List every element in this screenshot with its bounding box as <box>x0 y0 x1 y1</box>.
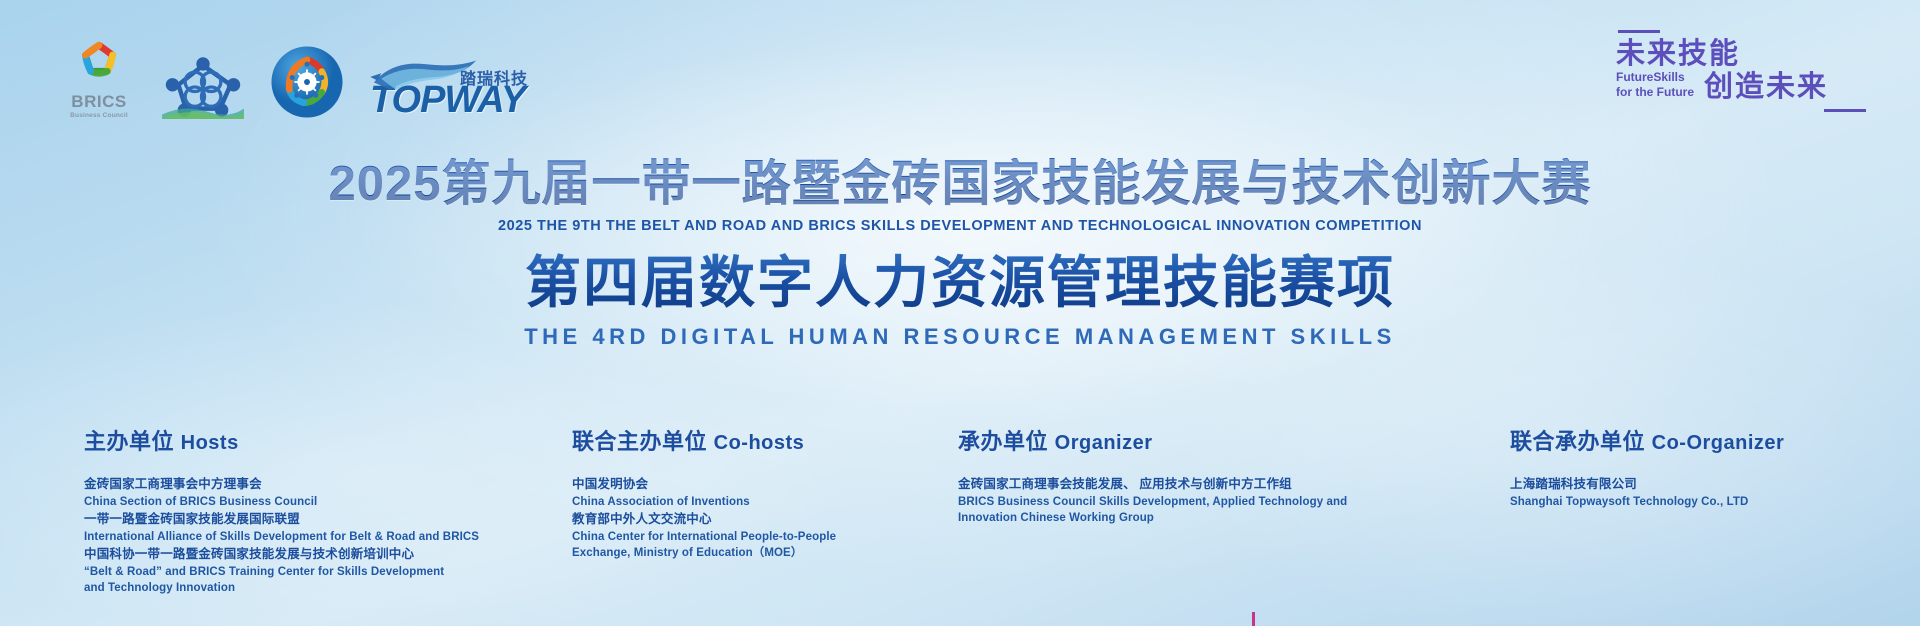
organizer-entry: 中国科协一带一路暨金砖国家技能发展与技术创新培训中心 “Belt & Road”… <box>84 546 514 596</box>
organizer-columns: 主办单位 Hosts 金砖国家工商理事会中方理事会 China Section … <box>0 430 1920 610</box>
future-skills-en: FutureSkills for the Future <box>1616 70 1694 102</box>
column-title-cohosts: 联合主办单位 Co-hosts <box>572 430 942 454</box>
column-title-hosts: 主办单位 Hosts <box>84 430 514 454</box>
future-skills-en-line1: FutureSkills <box>1616 70 1694 84</box>
organizer-entry: 金砖国家工商理事会技能发展、 应用技术与创新中方工作组 BRICS Busine… <box>958 476 1378 526</box>
organizer-column-organizer: 承办单位 Organizer 金砖国家工商理事会技能发展、 应用技术与创新中方工… <box>958 430 1378 528</box>
entry-cn: 一带一路暨金砖国家技能发展国际联盟 <box>84 511 514 529</box>
subtitle-chinese: 第四届数字人力资源管理技能赛项 <box>0 252 1920 314</box>
entry-en: China Association of Inventions <box>572 494 942 510</box>
organizer-column-hosts: 主办单位 Hosts 金砖国家工商理事会中方理事会 China Section … <box>84 430 514 598</box>
column-title-coorganizer-cn: 联合承办单位 <box>1510 429 1645 454</box>
brics-star-icon <box>73 38 125 90</box>
column-title-hosts-cn: 主办单位 <box>84 429 174 454</box>
future-skills-cn-line1: 未来技能 <box>1616 39 1866 69</box>
column-title-organizer-en: Organizer <box>1055 432 1153 454</box>
entry-en: China Section of BRICS Business Council <box>84 494 514 510</box>
column-title-organizer-cn: 承办单位 <box>958 429 1048 454</box>
future-skills-lockup: 未来技能 FutureSkills for the Future 创造未来 <box>1616 30 1866 112</box>
future-skills-rule-top <box>1618 30 1660 33</box>
organizer-entry: 金砖国家工商理事会中方理事会 China Section of BRICS Bu… <box>84 476 514 510</box>
topway-logo-cn: 踏瑞科技 <box>460 65 528 89</box>
organizer-entry: 教育部中外人文交流中心 China Center for Internation… <box>572 511 942 561</box>
entry-en: International Alliance of Skills Develop… <box>84 529 514 545</box>
organizer-column-coorganizer: 联合承办单位 Co-Organizer 上海踏瑞科技有限公司 Shanghai … <box>1510 430 1890 511</box>
future-skills-en-line2: for the Future <box>1616 85 1694 99</box>
entry-en-cont: and Technology Innovation <box>84 580 514 596</box>
bottom-magenta-tick <box>1252 612 1255 626</box>
headline-chinese: 2025第九届一带一路暨金砖国家技能发展与技术创新大赛 <box>0 158 1920 211</box>
entry-en: Shanghai Topwaysoft Technology Co., LTD <box>1510 494 1890 510</box>
organizer-entry: 一带一路暨金砖国家技能发展国际联盟 International Alliance… <box>84 511 514 545</box>
brics-logo-subtitle: Business Council <box>70 112 128 119</box>
topway-logo: 踏瑞科技 TOPWAY <box>370 57 530 119</box>
organizer-entry: 中国发明协会 China Association of Inventions <box>572 476 942 510</box>
subtitle-english: THE 4RD DIGITAL HUMAN RESOURCE MANAGEMEN… <box>0 324 1920 350</box>
column-title-cohosts-en: Co-hosts <box>714 432 805 454</box>
entry-cn: 金砖国家工商理事会中方理事会 <box>84 476 514 494</box>
brics-business-council-logo: BRICS Business Council <box>62 38 136 119</box>
skills-alliance-logo <box>162 55 244 119</box>
entry-en: China Center for International People-to… <box>572 529 942 545</box>
organizer-column-cohosts: 联合主办单位 Co-hosts 中国发明协会 China Association… <box>572 430 942 563</box>
subtitle-block: 第四届数字人力资源管理技能赛项 THE 4RD DIGITAL HUMAN RE… <box>0 252 1920 350</box>
entry-en: BRICS Business Council Skills Developmen… <box>958 494 1378 510</box>
competition-emblem-logo <box>270 45 344 119</box>
headline-block: 2025第九届一带一路暨金砖国家技能发展与技术创新大赛 2025 THE 9TH… <box>0 158 1920 234</box>
brics-logo-title: BRICS <box>71 93 126 110</box>
column-title-hosts-en: Hosts <box>181 432 239 454</box>
entry-en: “Belt & Road” and BRICS Training Center … <box>84 564 514 580</box>
entry-cn: 中国科协一带一路暨金砖国家技能发展与技术创新培训中心 <box>84 546 514 564</box>
column-title-cohosts-cn: 联合主办单位 <box>572 429 707 454</box>
entry-cn: 金砖国家工商理事会技能发展、 应用技术与创新中方工作组 <box>958 476 1378 494</box>
entry-cn: 中国发明协会 <box>572 476 942 494</box>
entry-cn: 上海踏瑞科技有限公司 <box>1510 476 1890 494</box>
organizer-entry: 上海踏瑞科技有限公司 Shanghai Topwaysoft Technolog… <box>1510 476 1890 510</box>
column-title-organizer: 承办单位 Organizer <box>958 430 1378 454</box>
entry-cn: 教育部中外人文交流中心 <box>572 511 942 529</box>
headline-english: 2025 THE 9TH THE BELT AND ROAD AND BRICS… <box>0 218 1920 234</box>
column-title-coorganizer-en: Co-Organizer <box>1652 432 1785 454</box>
logo-strip: BRICS Business Council <box>62 38 530 119</box>
banner-stage: BRICS Business Council <box>0 0 1920 626</box>
column-title-coorganizer: 联合承办单位 Co-Organizer <box>1510 430 1890 454</box>
entry-en-cont: Exchange, Ministry of Education（MOE） <box>572 545 942 561</box>
future-skills-rule-bottom <box>1824 109 1866 112</box>
entry-en-cont: Innovation Chinese Working Group <box>958 510 1378 526</box>
future-skills-cn-line2: 创造未来 <box>1704 72 1828 102</box>
